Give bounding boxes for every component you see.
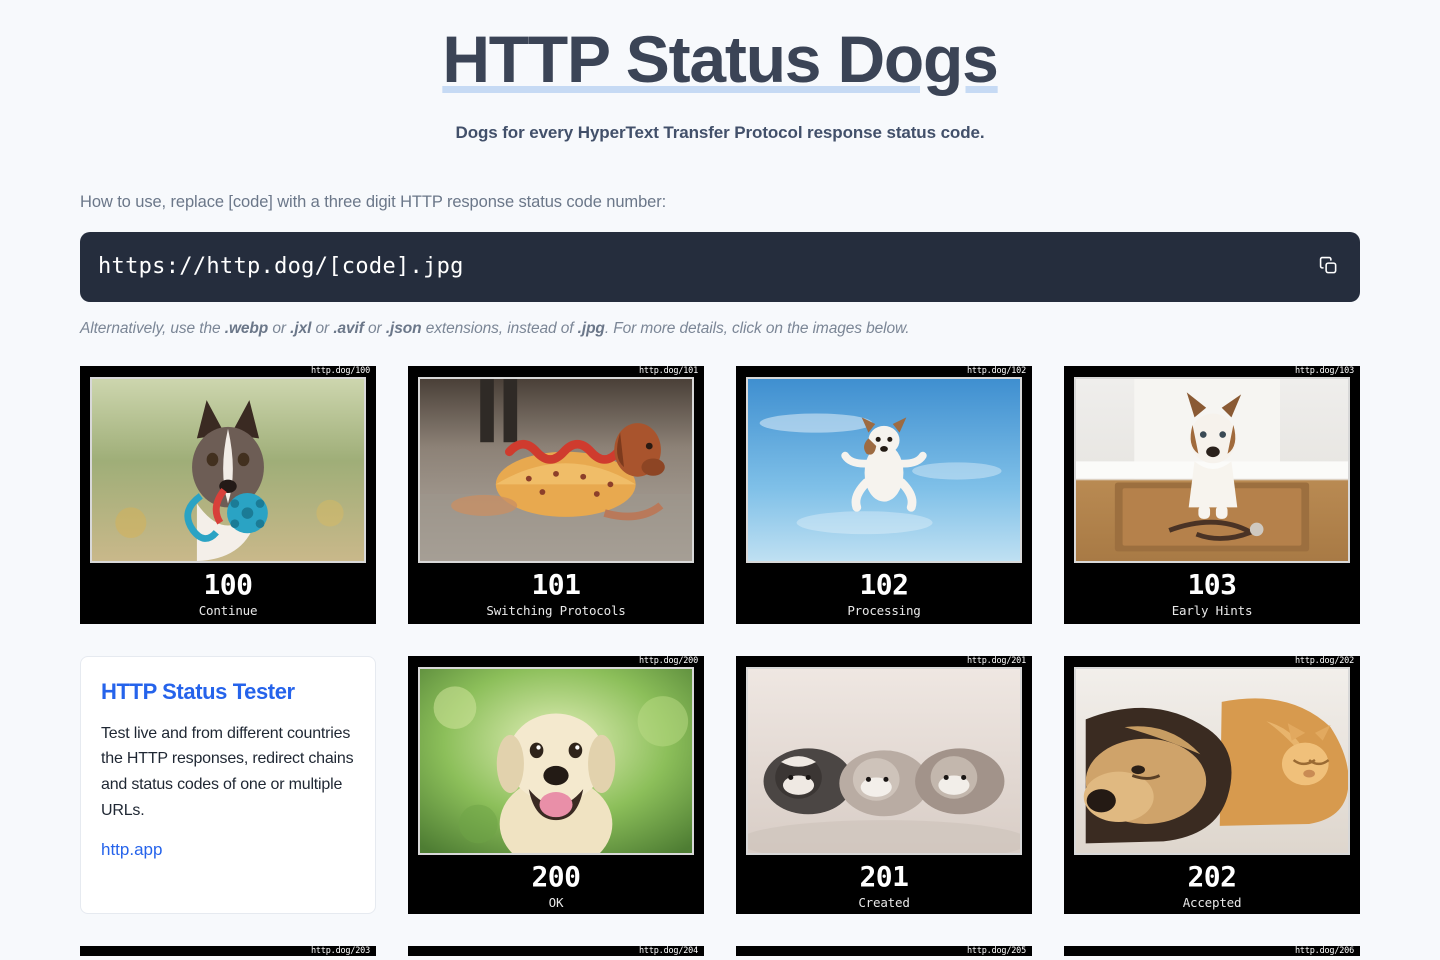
card-status-code: 102 — [859, 569, 908, 601]
card-caption: 102Processing — [736, 563, 1032, 624]
status-card-200[interactable]: http.dog/200 200OK — [408, 656, 704, 914]
card-status-code: 202 — [1187, 861, 1236, 893]
card-status-label: OK — [549, 895, 564, 910]
card-status-label: Continue — [199, 603, 258, 618]
card-status-code: 200 — [531, 861, 580, 893]
alt-note-p5: extensions, instead of — [422, 320, 578, 337]
status-card-201[interactable]: http.dog/201 201Created — [736, 656, 1032, 914]
url-code-block[interactable]: https://http.dog/[code].jpg — [80, 232, 1360, 302]
alt-ext-jxl: .jxl — [290, 320, 311, 337]
alt-note-p2: or — [268, 320, 290, 337]
card-photo — [1074, 667, 1350, 855]
alt-note-p4: or — [364, 320, 386, 337]
card-caption: 201Created — [736, 855, 1032, 914]
status-card-102[interactable]: http.dog/102 102Processing — [736, 366, 1032, 624]
card-caption: 101Switching Protocols — [408, 563, 704, 624]
card-photo — [746, 667, 1022, 855]
alt-ext-jpg: .jpg — [578, 320, 605, 337]
card-watermark: http.dog/101 — [408, 366, 704, 378]
promo-link[interactable]: http.app — [101, 840, 162, 860]
card-status-code: 101 — [531, 569, 580, 601]
card-status-label: Early Hints — [1172, 603, 1253, 618]
promo-title: HTTP Status Tester — [101, 679, 355, 705]
card-photo — [90, 377, 366, 563]
card-watermark: http.dog/202 — [1064, 656, 1360, 668]
alt-ext-webp: .webp — [225, 320, 268, 337]
card-watermark: http.dog/200 — [408, 656, 704, 668]
status-card-partial-3[interactable]: http.dog/205 — [736, 946, 1032, 956]
page-title: HTTP Status Dogs — [442, 18, 997, 101]
card-photo — [418, 377, 694, 563]
card-caption: 202Accepted — [1064, 855, 1360, 914]
url-template-text: https://http.dog/[code].jpg — [98, 254, 464, 279]
card-caption: 200OK — [408, 855, 704, 914]
card-status-code: 103 — [1187, 569, 1236, 601]
card-status-code: 201 — [859, 861, 908, 893]
copy-icon — [1319, 256, 1338, 278]
card-status-label: Switching Protocols — [486, 603, 625, 618]
card-caption: 103Early Hints — [1064, 563, 1360, 624]
card-watermark: http.dog/201 — [736, 656, 1032, 668]
status-card-202[interactable]: http.dog/202 202Accepted — [1064, 656, 1360, 914]
status-card-partial-2[interactable]: http.dog/204 — [408, 946, 704, 956]
promo-card-http-status-tester[interactable]: HTTP Status TesterTest live and from dif… — [80, 656, 376, 914]
status-card-101[interactable]: http.dog/101 101Switching Protocols — [408, 366, 704, 624]
alt-note-p6: . For more details, click on the images … — [605, 320, 910, 337]
page-header: HTTP Status Dogs Dogs for every HyperTex… — [80, 0, 1360, 143]
card-photo — [1074, 377, 1350, 563]
alt-note-p3: or — [311, 320, 333, 337]
card-caption: 100Continue — [80, 563, 376, 624]
card-status-label: Processing — [847, 603, 920, 618]
alt-note-p1: Alternatively, use the — [80, 320, 225, 337]
promo-description: Test live and from different countries t… — [101, 721, 355, 825]
status-card-103[interactable]: http.dog/103 103Early Hints — [1064, 366, 1360, 624]
copy-button[interactable] — [1312, 251, 1344, 283]
card-status-label: Accepted — [1183, 895, 1242, 910]
card-watermark: http.dog/206 — [1064, 946, 1360, 956]
card-watermark: http.dog/205 — [736, 946, 1032, 956]
status-card-partial-1[interactable]: http.dog/203 — [80, 946, 376, 956]
card-status-code: 100 — [203, 569, 252, 601]
card-watermark: http.dog/103 — [1064, 366, 1360, 378]
card-photo — [418, 667, 694, 855]
howto-instruction: How to use, replace [code] with a three … — [80, 193, 1360, 212]
status-card-partial-4[interactable]: http.dog/206 — [1064, 946, 1360, 956]
page-subtitle: Dogs for every HyperText Transfer Protoc… — [80, 123, 1360, 143]
status-card-grid: http.dog/100 100Continuehttp.dog/101 — [80, 366, 1360, 960]
card-watermark: http.dog/102 — [736, 366, 1032, 378]
card-photo — [746, 377, 1022, 563]
alt-ext-json: .json — [386, 320, 422, 337]
alternative-extensions-note: Alternatively, use the .webp or .jxl or … — [80, 320, 1360, 338]
card-watermark: http.dog/204 — [408, 946, 704, 956]
card-watermark: http.dog/203 — [80, 946, 376, 956]
page-root: HTTP Status Dogs Dogs for every HyperTex… — [0, 0, 1440, 960]
card-status-label: Created — [858, 895, 909, 910]
status-card-100[interactable]: http.dog/100 100Continue — [80, 366, 376, 624]
card-watermark: http.dog/100 — [80, 366, 376, 378]
alt-ext-avif: .avif — [333, 320, 364, 337]
